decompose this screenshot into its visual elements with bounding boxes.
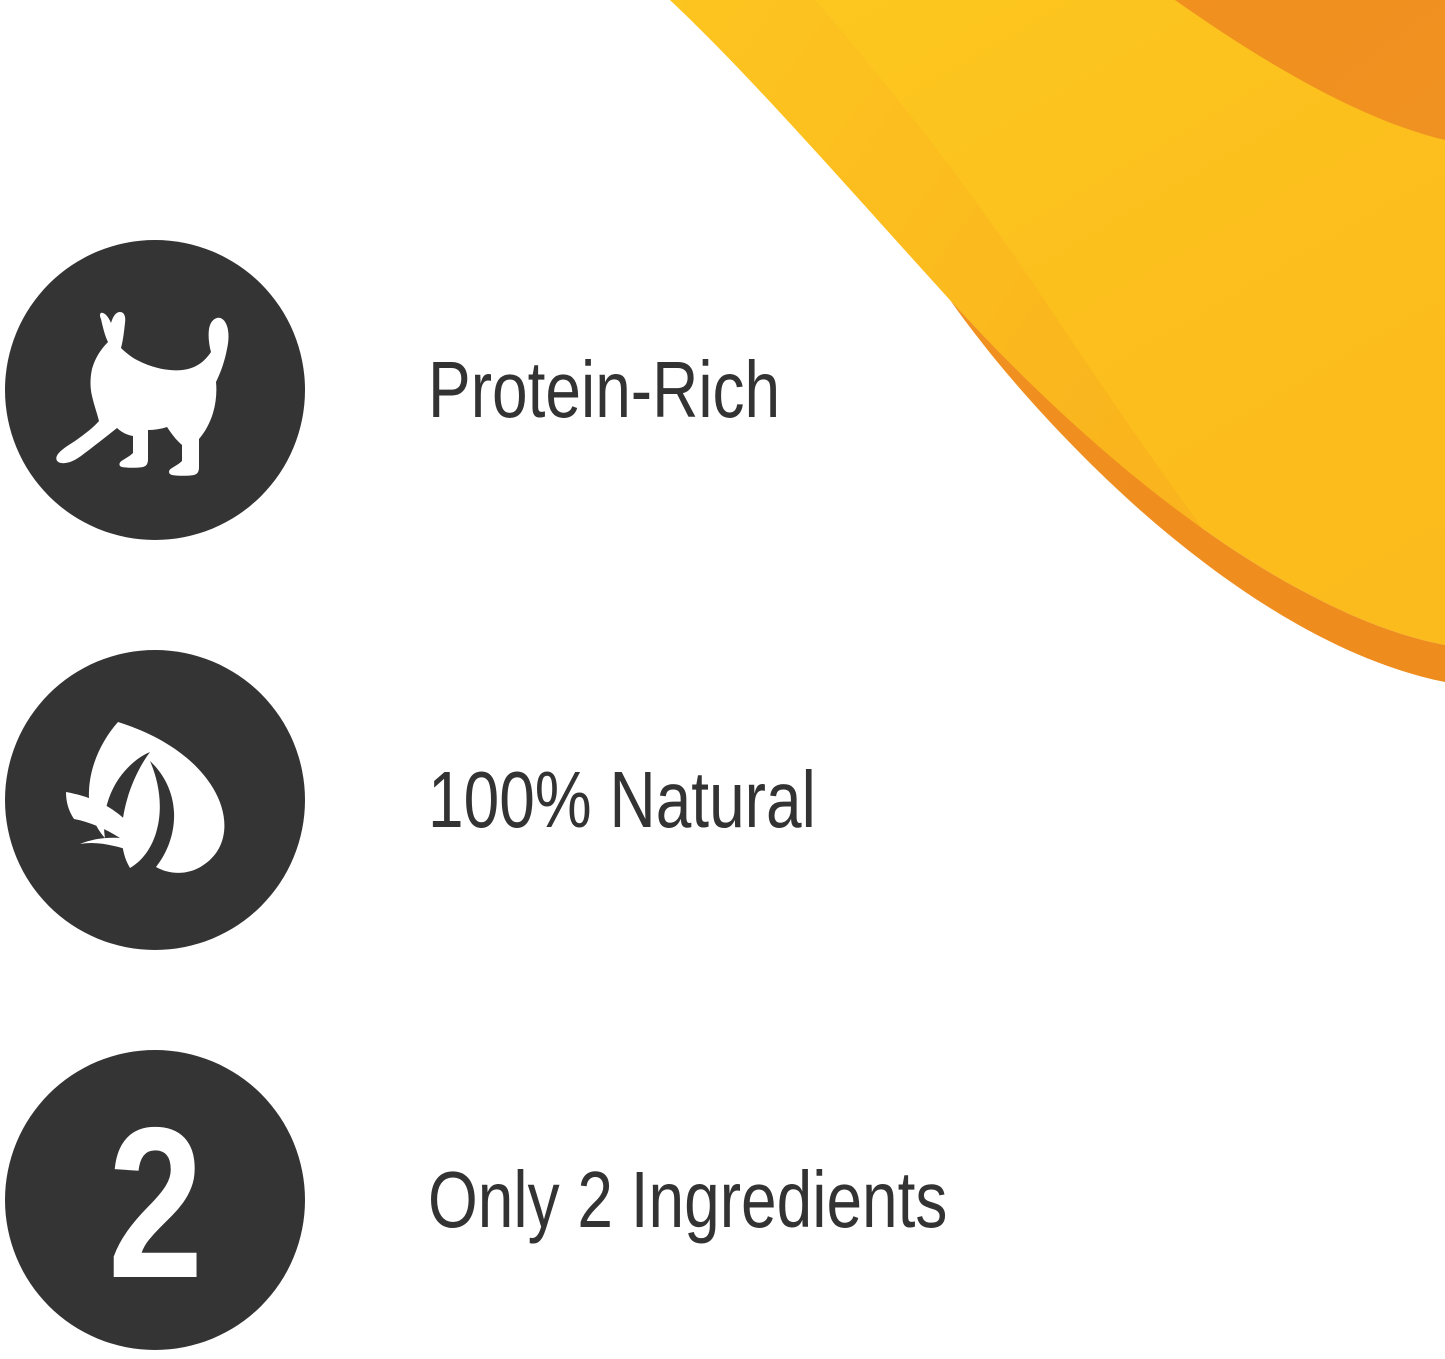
- number-badge: 2: [5, 1050, 305, 1350]
- cat-badge: [5, 240, 305, 540]
- feature-label: Protein-Rich: [428, 350, 780, 430]
- feature-label: Only 2 Ingredients: [428, 1160, 947, 1240]
- feature-row: Protein-Rich: [0, 240, 1445, 540]
- product-feature-panel: Protein-Rich 100% Natural 2 Only 2 Ingre…: [0, 0, 1445, 1359]
- feature-row: 100% Natural: [0, 650, 1445, 950]
- feature-row: 2 Only 2 Ingredients: [0, 1050, 1445, 1350]
- number-2-icon: 2: [108, 1095, 202, 1310]
- leaf-badge: [5, 650, 305, 950]
- feature-label: 100% Natural: [428, 760, 816, 840]
- leaf-icon: [50, 700, 260, 900]
- cat-icon: [45, 295, 265, 485]
